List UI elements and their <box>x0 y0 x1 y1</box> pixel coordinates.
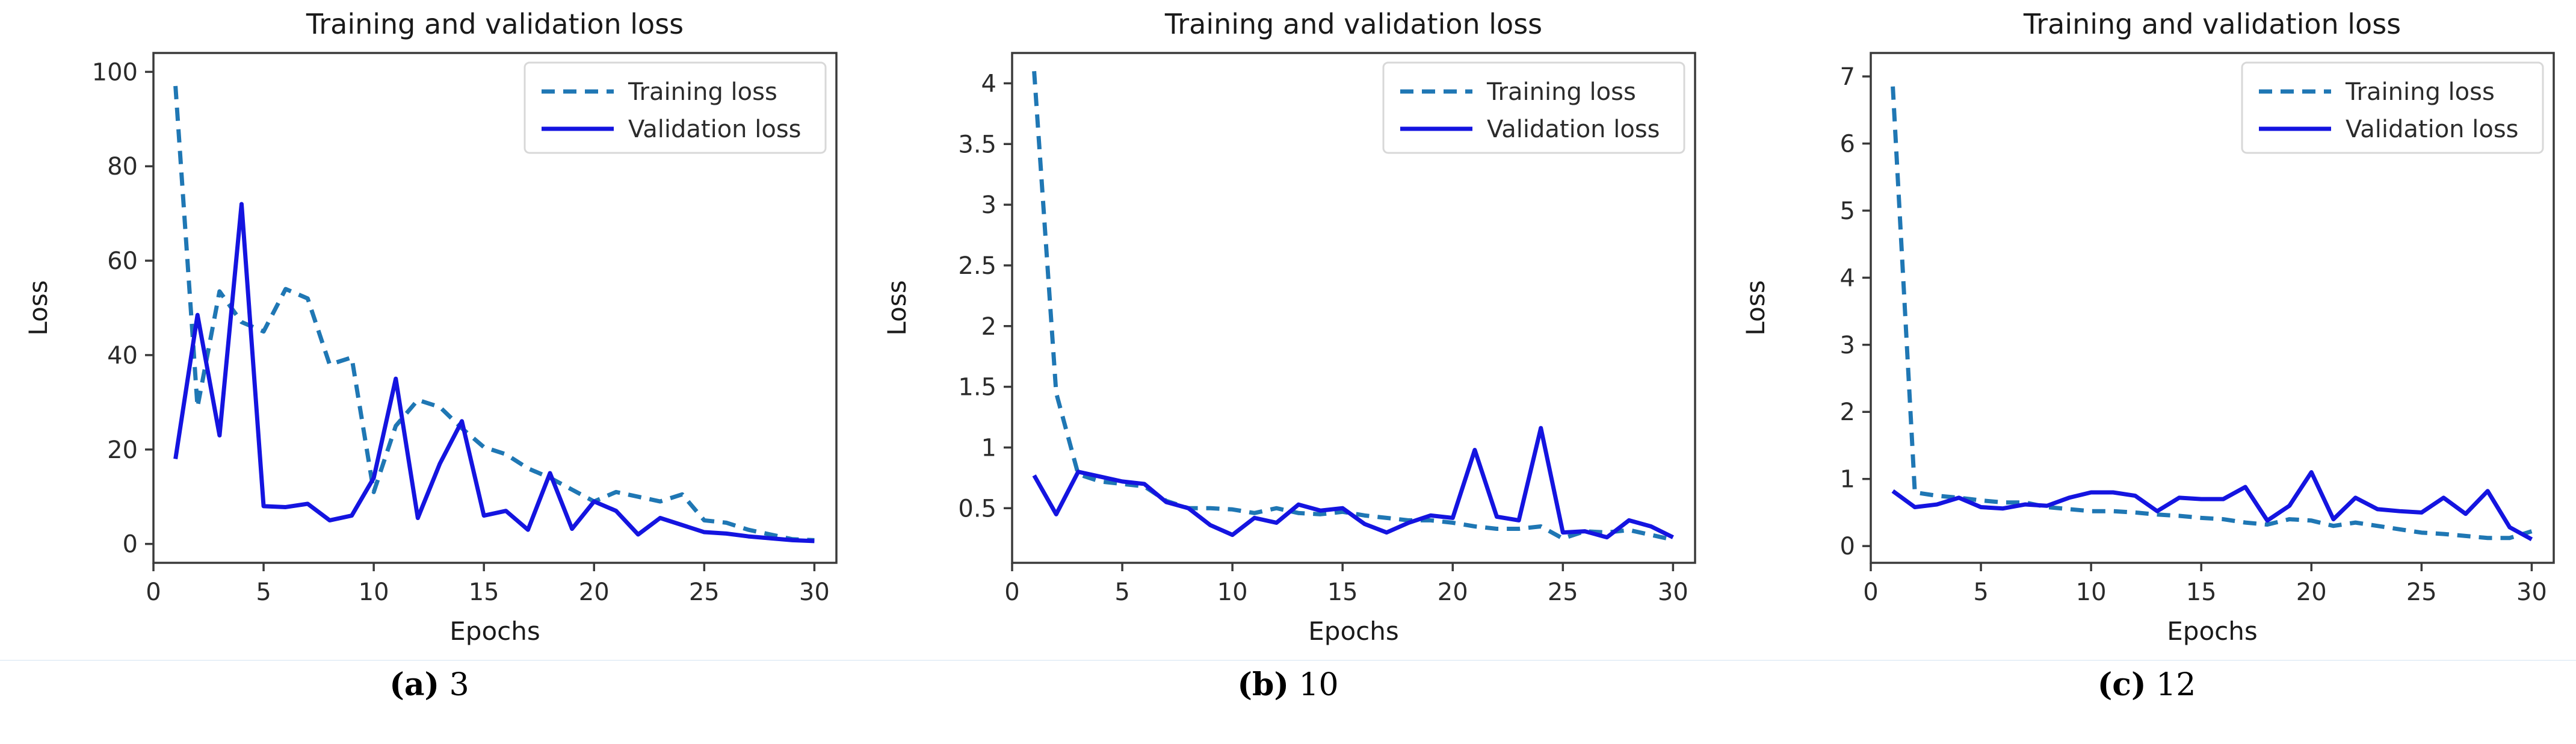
caption-letter-a: (a) <box>389 666 439 703</box>
chart-c-canvas: Training and validation loss012345670510… <box>1717 0 2576 668</box>
panel-caption-c: (c) 12 <box>2098 669 2196 701</box>
x-tick-label: 30 <box>1658 578 1688 606</box>
x-tick-label: 15 <box>1327 578 1358 606</box>
training-loss-line <box>176 86 815 540</box>
legend-validation-label: Validation loss <box>1487 116 1660 143</box>
y-tick-label: 1.5 <box>958 374 996 401</box>
x-tick-label: 10 <box>2076 578 2107 606</box>
y-tick-label: 100 <box>92 58 138 86</box>
legend-validation-label: Validation loss <box>2346 116 2519 143</box>
y-tick-label: 0 <box>123 531 138 559</box>
y-axis-label: Loss <box>1741 280 1770 335</box>
chart-panel-a: Training and validation loss020406080100… <box>0 0 859 744</box>
chart-panel-b: Training and validation loss0.511.522.53… <box>859 0 1717 744</box>
y-tick-label: 7 <box>1840 63 1855 91</box>
loss-chart-a: Training and validation loss020406080100… <box>0 0 859 668</box>
loss-chart-c: Training and validation loss012345670510… <box>1717 0 2576 668</box>
validation-loss-line <box>1034 428 1673 538</box>
x-tick-label: 5 <box>1114 578 1129 606</box>
y-tick-label: 1 <box>1840 466 1855 494</box>
chart-a-canvas: Training and validation loss020406080100… <box>0 0 859 668</box>
x-tick-label: 0 <box>1004 578 1019 606</box>
y-tick-label: 4 <box>981 70 996 98</box>
x-tick-label: 20 <box>1438 578 1468 606</box>
y-tick-label: 3 <box>981 191 996 219</box>
x-tick-label: 25 <box>1548 578 1578 606</box>
y-tick-label: 80 <box>107 153 138 181</box>
chart-title: Training and validation loss <box>306 8 684 40</box>
y-tick-label: 1 <box>981 434 996 462</box>
x-tick-label: 20 <box>579 578 610 606</box>
training-loss-line <box>1893 87 2532 538</box>
x-axis-label: Epochs <box>449 616 540 646</box>
legend-validation-label: Validation loss <box>628 116 802 143</box>
caption-value-b: 10 <box>1299 667 1338 703</box>
caption-value-a: 3 <box>449 667 469 703</box>
x-tick-label: 15 <box>2186 578 2217 606</box>
y-tick-label: 6 <box>1840 130 1855 158</box>
caption-letter-c: (c) <box>2098 666 2146 703</box>
chart-title: Training and validation loss <box>2023 8 2401 40</box>
panel-separator-a <box>0 660 859 661</box>
y-tick-label: 4 <box>1840 264 1855 292</box>
x-tick-label: 20 <box>2296 578 2327 606</box>
y-tick-label: 40 <box>107 342 138 370</box>
y-tick-label: 60 <box>107 247 138 275</box>
panel-separator-b <box>859 660 1717 661</box>
y-tick-label: 20 <box>107 436 138 464</box>
caption-letter-b: (b) <box>1237 666 1289 703</box>
x-tick-label: 5 <box>1973 578 1988 606</box>
legend-training-label: Training loss <box>628 78 777 106</box>
x-tick-label: 0 <box>146 578 161 606</box>
y-tick-label: 5 <box>1840 197 1855 225</box>
x-axis-label: Epochs <box>1308 616 1399 646</box>
panel-caption-a: (a) 3 <box>389 669 469 701</box>
x-tick-label: 15 <box>469 578 499 606</box>
x-tick-label: 25 <box>2406 578 2437 606</box>
y-tick-label: 2.5 <box>958 252 996 280</box>
x-tick-label: 10 <box>1217 578 1248 606</box>
x-tick-label: 5 <box>256 578 271 606</box>
validation-loss-line <box>176 204 815 541</box>
chart-b-canvas: Training and validation loss0.511.522.53… <box>859 0 1717 668</box>
y-tick-label: 3.5 <box>958 131 996 158</box>
y-tick-label: 2 <box>981 313 996 341</box>
y-tick-label: 0 <box>1840 533 1855 560</box>
y-tick-label: 2 <box>1840 398 1855 426</box>
legend-training-label: Training loss <box>1486 78 1636 106</box>
x-tick-label: 10 <box>359 578 389 606</box>
panel-separator-c <box>1717 660 2576 661</box>
legend-training-label: Training loss <box>2345 78 2495 106</box>
y-tick-label: 3 <box>1840 332 1855 359</box>
panel-caption-b: (b) 10 <box>1237 669 1338 701</box>
chart-title: Training and validation loss <box>1164 8 1542 40</box>
x-tick-label: 25 <box>689 578 720 606</box>
figure-panel-row: Training and validation loss020406080100… <box>0 0 2576 744</box>
y-tick-label: 0.5 <box>958 495 996 522</box>
x-tick-label: 30 <box>2516 578 2547 606</box>
y-axis-label: Loss <box>23 280 53 335</box>
caption-value-c: 12 <box>2156 667 2196 703</box>
validation-loss-line <box>1893 473 2532 539</box>
x-axis-label: Epochs <box>2167 616 2258 646</box>
chart-panel-c: Training and validation loss012345670510… <box>1717 0 2576 744</box>
x-tick-label: 30 <box>799 578 830 606</box>
y-axis-label: Loss <box>882 280 912 335</box>
x-tick-label: 0 <box>1863 578 1878 606</box>
loss-chart-b: Training and validation loss0.511.522.53… <box>859 0 1717 668</box>
